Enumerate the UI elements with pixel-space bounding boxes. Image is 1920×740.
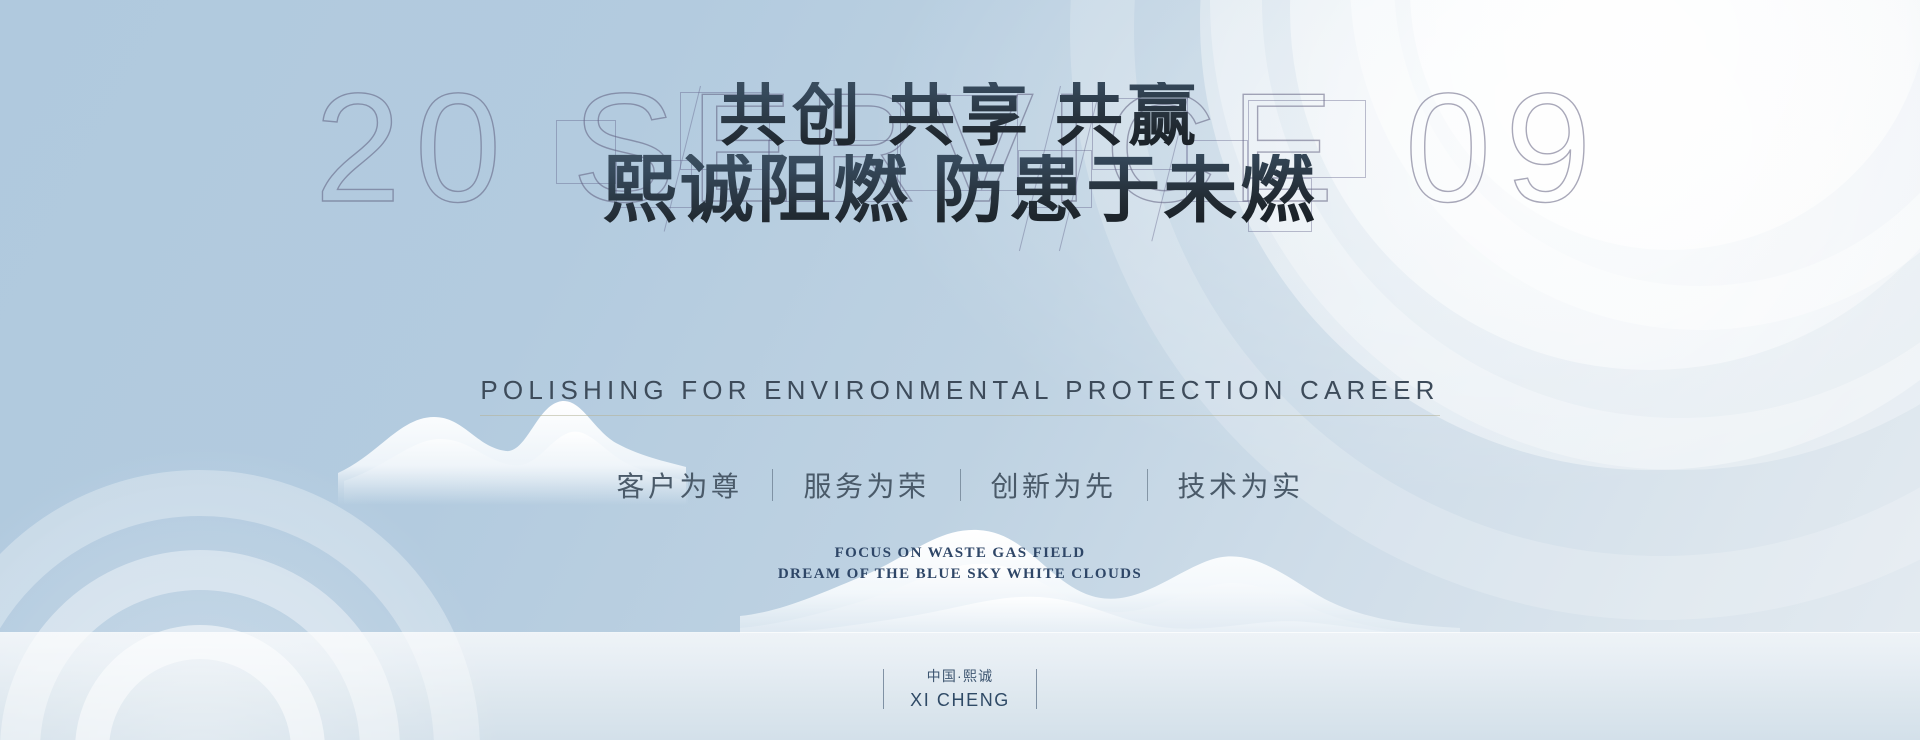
tagline-wrap: POLISHING FOR ENVIRONMENTAL PROTECTION C… (0, 375, 1920, 416)
brand-logo: 中国·熙诚 XI CHENG (0, 666, 1920, 712)
logo-english-name: XI CHENG (910, 688, 1010, 712)
english-tagline: POLISHING FOR ENVIRONMENTAL PROTECTION C… (480, 375, 1439, 416)
logo-divider-right (1036, 669, 1037, 709)
logo-divider-left (883, 669, 884, 709)
headline-line-2: 熙诚阻燃 防患于未燃 (0, 154, 1920, 228)
value-item-3: 创新为先 (961, 465, 1147, 505)
headline-line-1: 共创 共享 共赢 (0, 82, 1920, 150)
value-proposition-row: 客户为尊 服务为荣 创新为先 技术为实 (0, 465, 1920, 505)
subline-block: FOCUS ON WASTE GAS FIELD DREAM OF THE BL… (0, 543, 1920, 586)
value-item-2: 服务为荣 (773, 465, 959, 505)
value-item-4: 技术为实 (1148, 465, 1334, 505)
logo-chinese-name: 中国·熙诚 (910, 666, 1010, 688)
logo-text-block: 中国·熙诚 XI CHENG (910, 666, 1010, 712)
horizon-line (0, 632, 1920, 633)
subline-2: DREAM OF THE BLUE SKY WHITE CLOUDS (0, 564, 1920, 585)
banner-stage: 20 SERVICE 09 共创 共享 共赢 熙诚阻燃 防患于未燃 (0, 0, 1920, 740)
subline-1: FOCUS ON WASTE GAS FIELD (0, 543, 1920, 564)
headline-block: 共创 共享 共赢 熙诚阻燃 防患于未燃 (0, 82, 1920, 228)
value-item-1: 客户为尊 (586, 465, 772, 505)
